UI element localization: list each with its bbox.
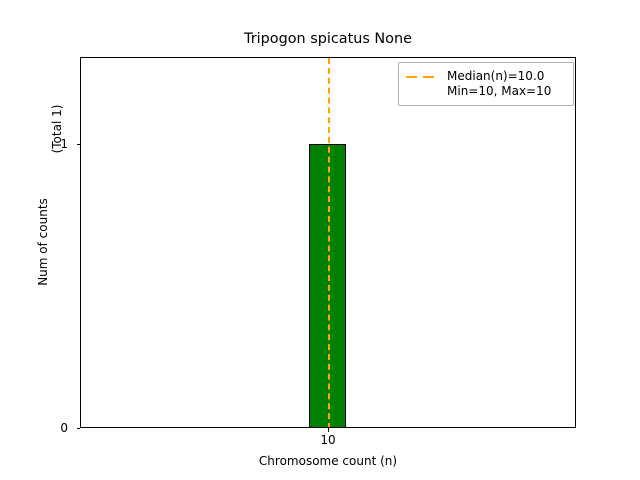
plot-area <box>80 57 576 428</box>
ytick-label-0: 0 <box>46 422 68 434</box>
legend-entry-text: Median(n)=10.0 Min=10, Max=10 <box>447 69 551 99</box>
median-line <box>328 58 330 428</box>
xtick-label-10: 10 <box>320 434 335 446</box>
legend-entry: Median(n)=10.0 Min=10, Max=10 <box>406 69 566 99</box>
dashed-line-icon <box>406 70 438 85</box>
xtick-mark-10 <box>328 428 329 432</box>
y-axis-label: Num of counts <box>37 142 51 342</box>
chart-title: Tripogon spicatus None <box>80 31 576 48</box>
legend: Median(n)=10.0 Min=10, Max=10 <box>398 62 574 106</box>
y-axis-label-total: (Total 1) <box>51 29 65 229</box>
chart-figure: Tripogon spicatus None 0 1 10 Chromosome… <box>0 0 640 480</box>
ytick-mark-0 <box>77 428 81 429</box>
legend-minmax-label: Min=10, Max=10 <box>447 84 551 99</box>
legend-median-label: Median(n)=10.0 <box>447 69 551 84</box>
x-axis-label: Chromosome count (n) <box>80 454 576 468</box>
